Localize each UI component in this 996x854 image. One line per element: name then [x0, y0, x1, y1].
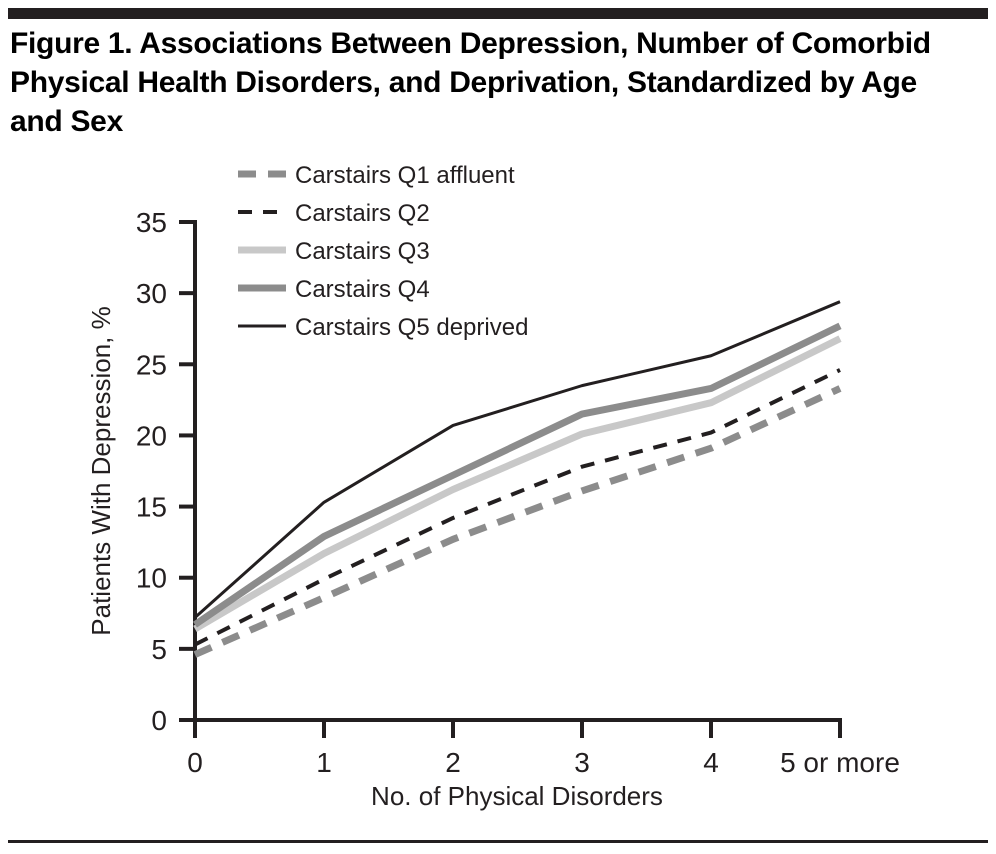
bottom-rule	[8, 840, 988, 843]
chart-plot-area: Carstairs Q1 affluentCarstairs Q2Carstai…	[0, 150, 996, 830]
y-tick-label: 35	[136, 207, 167, 238]
x-axis-ticks: 012345 or more	[187, 720, 900, 778]
series-line-2	[195, 370, 840, 645]
legend-label-5: Carstairs Q5 deprived	[295, 314, 528, 341]
x-tick-label: 1	[316, 747, 332, 778]
x-tick-label: 4	[703, 747, 719, 778]
series-line-1	[195, 388, 840, 654]
x-axis-title: No. of Physical Disorders	[371, 781, 663, 811]
y-tick-label: 0	[151, 705, 167, 736]
x-tick-label: 0	[187, 747, 203, 778]
chart-legend: Carstairs Q1 affluentCarstairs Q2Carstai…	[238, 162, 528, 341]
y-tick-label: 30	[136, 278, 167, 309]
line-chart: Carstairs Q1 affluentCarstairs Q2Carstai…	[0, 150, 996, 830]
legend-label-2: Carstairs Q2	[295, 200, 430, 227]
legend-label-3: Carstairs Q3	[295, 238, 430, 265]
figure-page: Figure 1. Associations Between Depressio…	[0, 0, 996, 854]
y-tick-label: 25	[136, 349, 167, 380]
y-tick-label: 10	[136, 563, 167, 594]
legend-label-1: Carstairs Q1 affluent	[295, 162, 515, 189]
y-tick-label: 15	[136, 492, 167, 523]
series-line-4	[195, 326, 840, 625]
x-tick-label: 3	[574, 747, 590, 778]
y-axis-ticks: 05101520253035	[136, 207, 195, 736]
chart-series-group	[195, 302, 840, 655]
legend-label-4: Carstairs Q4	[295, 276, 430, 303]
y-tick-label: 5	[151, 634, 167, 665]
y-tick-label: 20	[136, 420, 167, 451]
y-axis-title: Patients With Depression, %	[86, 306, 116, 635]
series-line-3	[195, 339, 840, 629]
x-tick-label: 5 or more	[780, 747, 900, 778]
figure-title: Figure 1. Associations Between Depressio…	[10, 24, 950, 141]
top-rule	[8, 8, 988, 19]
x-tick-label: 2	[445, 747, 461, 778]
chart-axes	[195, 222, 840, 720]
